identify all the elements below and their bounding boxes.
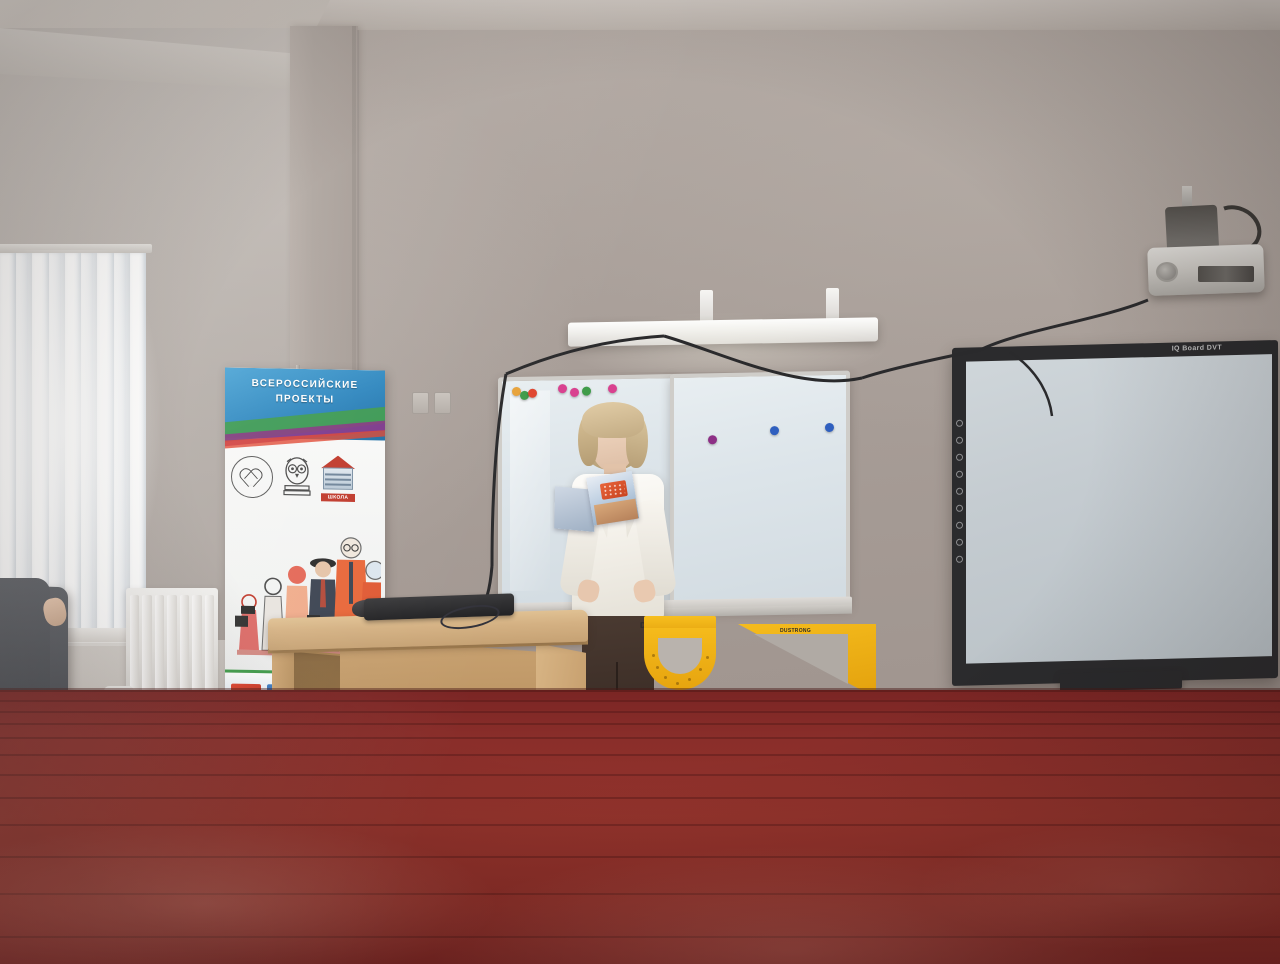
projector-ports bbox=[1198, 266, 1254, 282]
floor-plank-seam bbox=[0, 700, 1280, 702]
triangle-brand-label: DUSTRONG bbox=[780, 628, 811, 634]
reading-booklet bbox=[552, 472, 639, 532]
floor-plank-seam bbox=[0, 856, 1280, 858]
triangle-ruler: DUSTRONG bbox=[738, 624, 876, 698]
blind-slat bbox=[32, 252, 48, 632]
floor-plank-seam bbox=[0, 893, 1280, 895]
iqboard-brand-label: IQ Board DVT bbox=[1172, 344, 1222, 352]
blind-slat bbox=[97, 252, 113, 632]
banner-title: ВСЕРОССИЙСКИЕ ПРОЕКТЫ bbox=[225, 376, 385, 408]
floor-plank-seam bbox=[0, 711, 1280, 713]
blind-slat bbox=[65, 252, 81, 632]
radiator-fin bbox=[192, 595, 201, 691]
iqboard-side-icon[interactable] bbox=[956, 505, 963, 512]
lamp-bracket bbox=[700, 290, 713, 324]
wooden-floor bbox=[0, 690, 1280, 964]
booklet-cover-pattern bbox=[602, 483, 625, 497]
whiteboard-gloss bbox=[510, 390, 550, 591]
blind-slat bbox=[81, 252, 97, 632]
protractor-ruler bbox=[644, 616, 716, 692]
iqboard-screen[interactable] bbox=[966, 354, 1272, 663]
triangle-cutout bbox=[754, 634, 848, 684]
radiator-fin bbox=[205, 595, 214, 691]
radiator-fin bbox=[130, 595, 139, 691]
floor-plank-seam bbox=[0, 824, 1280, 826]
floor-plank-seam bbox=[0, 723, 1280, 725]
radiator-fin bbox=[155, 595, 164, 691]
wall-outlet-left[interactable] bbox=[412, 392, 429, 414]
owl-icon bbox=[282, 456, 312, 501]
iqboard-side-icon[interactable] bbox=[956, 488, 963, 495]
school-house-logo: ШКОЛА bbox=[321, 455, 355, 502]
iqboard-side-icon[interactable] bbox=[956, 437, 963, 444]
iqboard-side-icon[interactable] bbox=[956, 522, 963, 529]
iqboard-side-icon[interactable] bbox=[956, 454, 963, 461]
blind-rail[interactable] bbox=[0, 244, 152, 253]
floor-plank-seam bbox=[0, 936, 1280, 938]
floor-plank-seam bbox=[0, 754, 1280, 756]
vertical-blinds[interactable] bbox=[0, 252, 146, 632]
wall-outlet-right[interactable] bbox=[434, 392, 451, 414]
radiator-fin bbox=[142, 595, 151, 691]
presenter-hair-front bbox=[582, 402, 644, 438]
heart-icon bbox=[241, 468, 263, 488]
school-logo-label: ШКОЛА bbox=[321, 493, 355, 502]
iqboard-side-icon[interactable] bbox=[956, 539, 963, 546]
blind-slat bbox=[49, 252, 65, 632]
classroom-photo: IQ Board DVT bbox=[0, 0, 1280, 964]
radiator-fin bbox=[180, 595, 189, 691]
floor-plank-seam bbox=[0, 797, 1280, 799]
iqboard-side-icon[interactable] bbox=[956, 471, 963, 478]
blind-slat bbox=[16, 252, 32, 632]
blind-slat bbox=[114, 252, 130, 632]
floor-wall-edge bbox=[0, 688, 1280, 692]
banner-title-line2: ПРОЕКТЫ bbox=[225, 391, 385, 409]
lamp-bracket bbox=[826, 288, 839, 322]
whiteboard-panel-right bbox=[670, 371, 850, 610]
iqboard-side-icon[interactable] bbox=[956, 420, 963, 427]
floor-plank-seam bbox=[0, 774, 1280, 776]
projector-lens bbox=[1156, 262, 1178, 282]
floor-plank-seam bbox=[0, 737, 1280, 739]
blind-slat bbox=[0, 252, 16, 632]
radiator-fin bbox=[167, 595, 176, 691]
iqboard-dvt[interactable]: IQ Board DVT bbox=[952, 340, 1278, 686]
iqboard-side-icon[interactable] bbox=[956, 556, 963, 563]
iqboard-icon-strip[interactable] bbox=[954, 420, 965, 563]
banner-logo-row: ШКОЛА bbox=[231, 452, 379, 505]
wall-radiator bbox=[126, 588, 218, 698]
owl-books-logo bbox=[282, 456, 312, 501]
blind-slat bbox=[130, 252, 146, 632]
heart-circle-logo bbox=[231, 456, 273, 499]
